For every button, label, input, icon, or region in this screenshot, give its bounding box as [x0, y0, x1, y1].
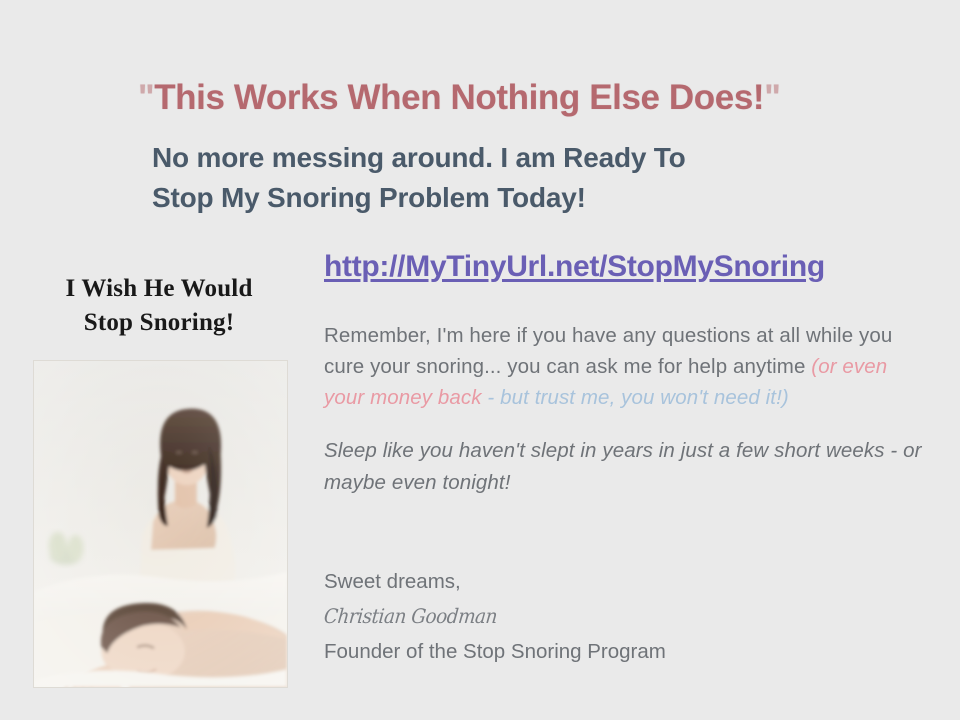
offer-url-link[interactable]: http://MyTinyUrl.net/StopMySnoring [324, 250, 825, 284]
body-paragraph-1: Remember, I'm here if you have any quest… [324, 320, 924, 413]
photo-illustration [34, 361, 287, 687]
signature-name: Christian Goodman [323, 601, 804, 632]
subheadline-line-1: No more messing around. I am Ready To [152, 142, 686, 173]
signature-block: Sweet dreams, Christian Goodman Founder … [324, 566, 844, 668]
body-copy: Remember, I'm here if you have any quest… [324, 320, 924, 498]
left-panel-heading-line-2: Stop Snoring! [14, 306, 304, 340]
body-paragraph-2: Sleep like you haven't slept in years in… [324, 435, 924, 497]
slide-canvas: "This Works When Nothing Else Does!" No … [0, 0, 960, 720]
left-panel-heading-line-1: I Wish He Would [65, 275, 252, 302]
body-paragraph-1-blue: - but trust me, you won't need it!) [482, 386, 789, 409]
left-panel-heading: I Wish He Would Stop Snoring! [14, 272, 304, 340]
headline-open-quote: " [138, 78, 154, 117]
signature-closing: Sweet dreams, [324, 566, 844, 598]
subheadline: No more messing around. I am Ready To St… [152, 138, 852, 218]
body-paragraph-1-plain: Remember, I'm here if you have any quest… [324, 324, 892, 378]
subheadline-line-2: Stop My Snoring Problem Today! [152, 178, 852, 218]
signature-role: Founder of the Stop Snoring Program [324, 636, 844, 668]
headline-text: This Works When Nothing Else Does! [154, 78, 764, 117]
headline: "This Works When Nothing Else Does!" [138, 78, 898, 118]
couple-in-bed-photo [33, 360, 288, 688]
headline-close-quote: " [764, 78, 780, 117]
